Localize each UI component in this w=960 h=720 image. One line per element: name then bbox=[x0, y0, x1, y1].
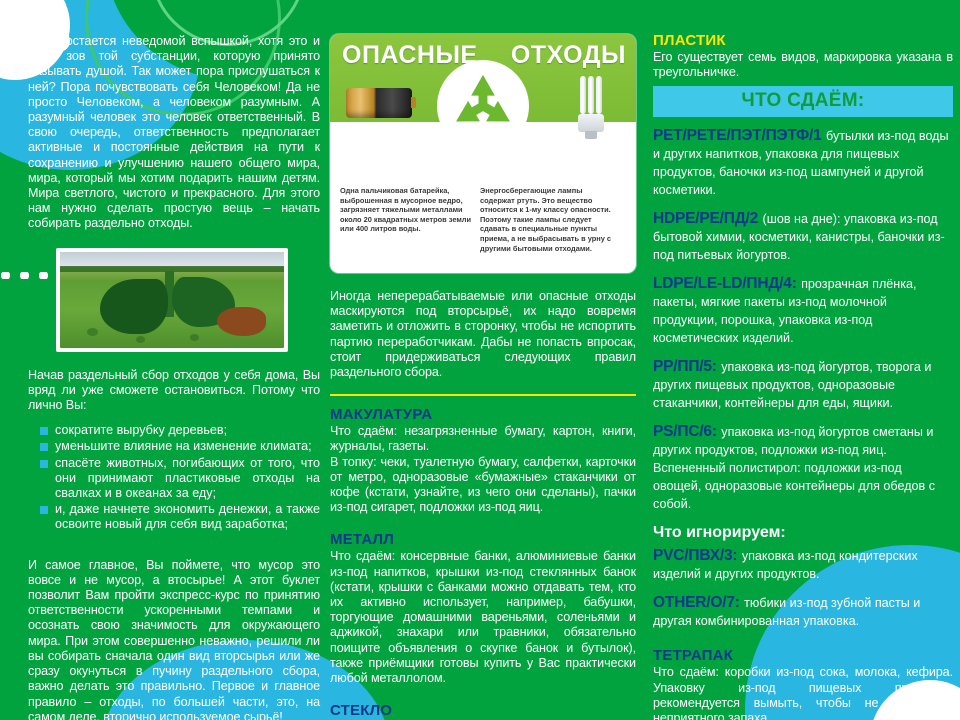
middle-column: ОПАСНЫЕ ОТХОДЫ Одна па bbox=[330, 34, 636, 720]
bullet-square-icon bbox=[40, 460, 48, 468]
list-item: и, даже начнете экономить денежки, а так… bbox=[28, 502, 320, 532]
card-col-battery: Одна пальчиковая батарейка, выброшенная … bbox=[340, 128, 472, 253]
list-item: спасёте животных, погибающих от того, чт… bbox=[28, 456, 320, 502]
tetrapak-heading: ТЕТРАПАК bbox=[653, 647, 953, 664]
forest-photo bbox=[56, 248, 288, 352]
cfl-lamp-icon bbox=[576, 76, 606, 132]
plastic-heading: ПЛАСТИК bbox=[653, 32, 953, 49]
section-paragraph: Что сдаём: незагрязненные бумагу, картон… bbox=[330, 424, 636, 454]
plastic-code: LDPE/LE-LD/ПНД/4: bbox=[653, 275, 797, 292]
recycle-icon bbox=[437, 60, 529, 152]
bullet-square-icon bbox=[40, 443, 48, 451]
section-paragraph: Что сдаём: консервные банки, алюминиевые… bbox=[330, 549, 636, 686]
left-column: Так и остается неведомой вспышкой, хотя … bbox=[28, 34, 320, 720]
brochure-page: Так и остается неведомой вспышкой, хотя … bbox=[0, 0, 960, 720]
intro-paragraph: Так и остается неведомой вспышкой, хотя … bbox=[28, 34, 320, 232]
section-metal: МЕТАЛЛ Что сдаём: консервные банки, алюм… bbox=[330, 531, 636, 686]
card-text-battery: Одна пальчиковая батарейка, выброшенная … bbox=[340, 186, 472, 234]
after-photo-paragraph: Начав раздельный сбор отходов у себя дом… bbox=[28, 368, 320, 414]
plastic-entry: PET/PETE/ПЭТ/ПЭТФ/1 бутылки из-под воды … bbox=[653, 127, 953, 199]
section-heading: МЕТАЛЛ bbox=[330, 531, 636, 548]
bullet-square-icon bbox=[40, 506, 48, 514]
right-column: ПЛАСТИК Его существует семь видов, марки… bbox=[653, 32, 953, 720]
plastic-ignore-entry: PVC/ПВХ/3: упаковка из-под кондитерских … bbox=[653, 547, 953, 583]
list-item: сократите вырубку деревьев; bbox=[28, 423, 320, 438]
card-title-right: ОТХОДЫ bbox=[511, 41, 626, 70]
benefits-list: сократите вырубку деревьев; уменьшите вл… bbox=[28, 423, 320, 532]
plastic-ignore-entry: OTHER/O/7: тюбики из-под зубной пасты и … bbox=[653, 594, 953, 630]
plastic-code: OTHER/O/7: bbox=[653, 594, 740, 611]
yellow-divider bbox=[330, 394, 636, 396]
card-text-lamp: Энергосберегающие лампы содержат ртуть. … bbox=[480, 186, 612, 253]
section-heading: СТЕКЛО bbox=[330, 702, 636, 719]
section-makulatura: МАКУЛАТУРА Что сдаём: незагрязненные бум… bbox=[330, 406, 636, 515]
bullet-square-icon bbox=[40, 427, 48, 435]
section-paragraph: В топку: чеки, туалетную бумагу, салфетк… bbox=[330, 455, 636, 516]
plastic-code: PP/ПП/5: bbox=[653, 358, 717, 375]
plastic-entry: HDPE/PE/ПД/2 (шов на дне): упаковка из-п… bbox=[653, 210, 953, 264]
plastic-code: PVC/ПВХ/3: bbox=[653, 547, 737, 564]
plastic-code: HDPE/PE/ПД/2 bbox=[653, 210, 758, 227]
section-heading: МАКУЛАТУРА bbox=[330, 406, 636, 423]
tetrapak-text: Что сдаём: коробки из-под сока, молока, … bbox=[653, 665, 953, 720]
list-item: уменьшите влияние на изменение климата; bbox=[28, 439, 320, 454]
plastic-code: PS/ПС/6: bbox=[653, 423, 717, 440]
plastic-intro: Его существует семь видов, маркировка ук… bbox=[653, 50, 953, 80]
plastic-entry: LDPE/LE-LD/ПНД/4: прозрачная плёнка, пак… bbox=[653, 275, 953, 347]
plastic-code: PET/PETE/ПЭТ/ПЭТФ/1 bbox=[653, 127, 822, 144]
what-we-accept-banner: ЧТО СДАЁМ: bbox=[653, 86, 953, 117]
middle-intro: Иногда неперерабатываемые или опасные от… bbox=[330, 289, 636, 380]
plastic-entry: PP/ПП/5: упаковка из-под йогуртов, творо… bbox=[653, 358, 953, 412]
battery-icon bbox=[346, 88, 412, 118]
section-glass: СТЕКЛО Что сдаём: бутылки и банки, иногд… bbox=[330, 702, 636, 720]
card-title-left: ОПАСНЫЕ bbox=[342, 41, 478, 70]
closing-paragraph: И самое главное, Вы поймете, что мусор э… bbox=[28, 558, 320, 720]
plastic-entry: PS/ПС/6: упаковка из-под йогуртов сметан… bbox=[653, 423, 953, 513]
ignore-heading: Что игнорируем: bbox=[653, 524, 953, 542]
hazardous-waste-card: ОПАСНЫЕ ОТХОДЫ Одна па bbox=[330, 34, 636, 273]
